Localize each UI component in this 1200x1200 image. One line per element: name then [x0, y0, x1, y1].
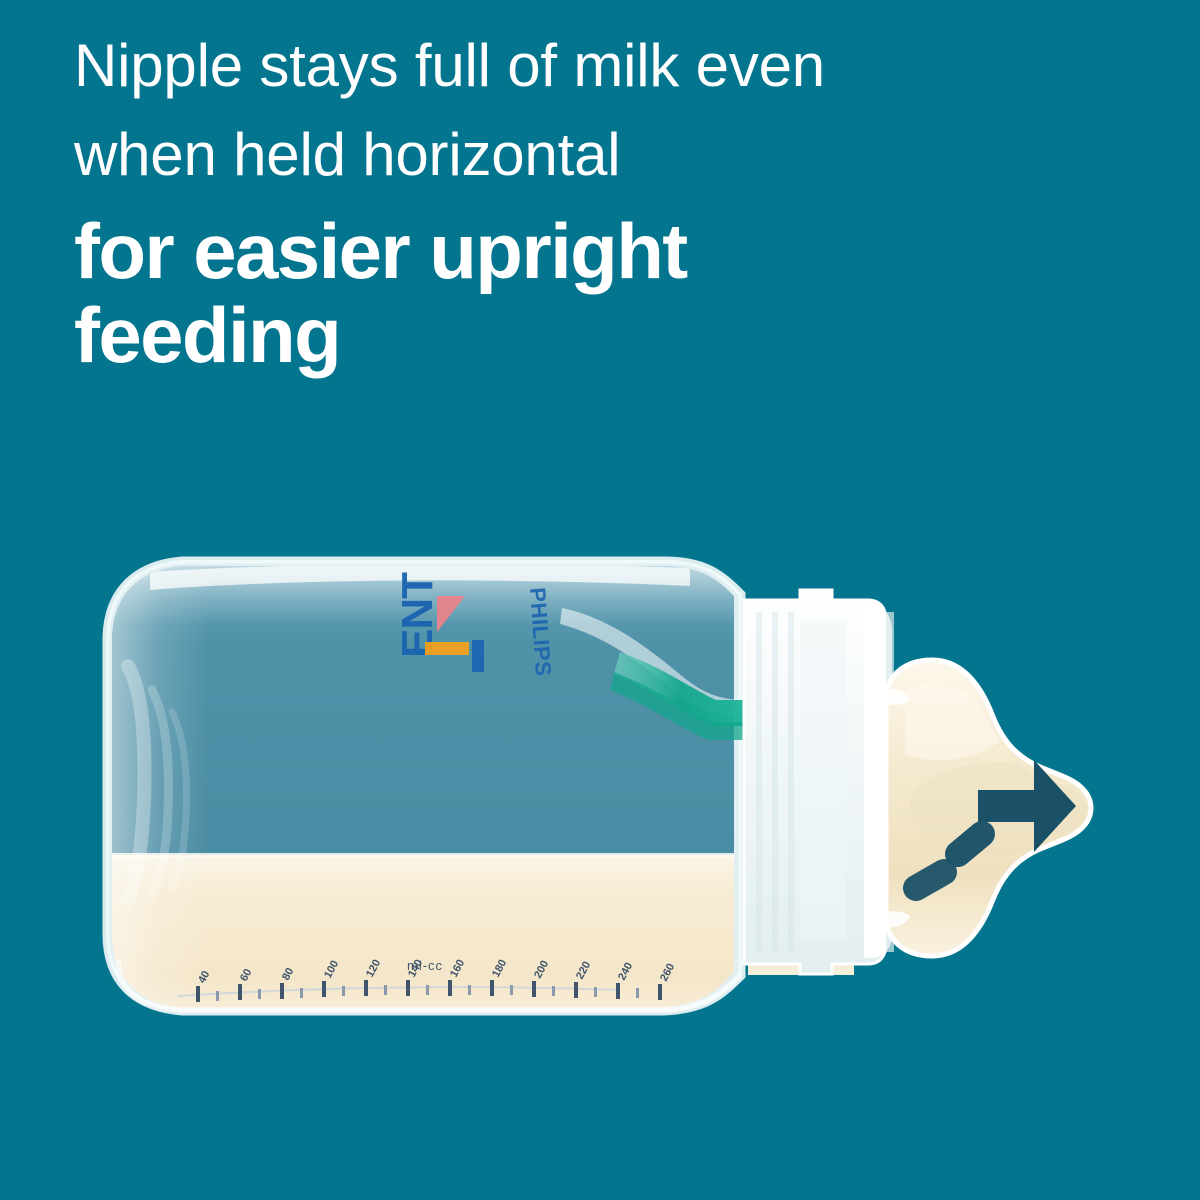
svg-text:160: 160 — [448, 958, 467, 980]
svg-text:180: 180 — [490, 958, 509, 980]
headline-light-line-2: when held horizontal — [74, 111, 1054, 200]
milk-flow-arrow — [582, 760, 1076, 896]
scale-unit-label: ml-cc — [407, 958, 443, 973]
headline-bold-line-1: for easier upright — [74, 206, 1054, 296]
bottle-grip-ridges — [128, 666, 186, 900]
measurement-scale: ml-cc 40 60 80 100 — [178, 958, 677, 1002]
bottle-body — [100, 555, 760, 1025]
brand-marks: PHILIPS ENT — [393, 572, 556, 677]
svg-text:220: 220 — [574, 960, 593, 982]
svg-text:240: 240 — [616, 961, 635, 983]
svg-text:140: 140 — [406, 958, 425, 980]
avent-orange-bar — [425, 642, 469, 655]
svg-text:200: 200 — [532, 959, 551, 981]
headline-bold-line-2: feeding — [74, 290, 1054, 380]
svg-text:80: 80 — [280, 966, 296, 982]
avent-pink-triangle — [437, 596, 465, 632]
svg-text:120: 120 — [364, 958, 383, 980]
avent-blue-stem — [472, 640, 484, 672]
svg-text:60: 60 — [238, 967, 254, 983]
vent-valve-strip — [846, 650, 860, 960]
bottle-neck-inner — [748, 736, 854, 975]
promo-page: Nipple stays full of milk even when held… — [0, 0, 1200, 1200]
scale-ticks: 40 60 80 100 120 140 — [196, 958, 677, 1002]
airfree-vent — [560, 608, 872, 960]
svg-text:100: 100 — [322, 959, 341, 981]
headline-block: Nipple stays full of milk even when held… — [74, 22, 1054, 381]
screw-ring — [744, 590, 894, 974]
svg-text:260: 260 — [658, 962, 677, 984]
arrow-head-icon — [978, 760, 1076, 852]
nipple — [870, 660, 1091, 956]
headline-light-line-1: Nipple stays full of milk even — [74, 22, 1054, 111]
brand-philips-text: PHILIPS — [525, 587, 556, 678]
svg-text:40: 40 — [196, 969, 212, 985]
brand-avent-text: ENT — [393, 572, 442, 658]
